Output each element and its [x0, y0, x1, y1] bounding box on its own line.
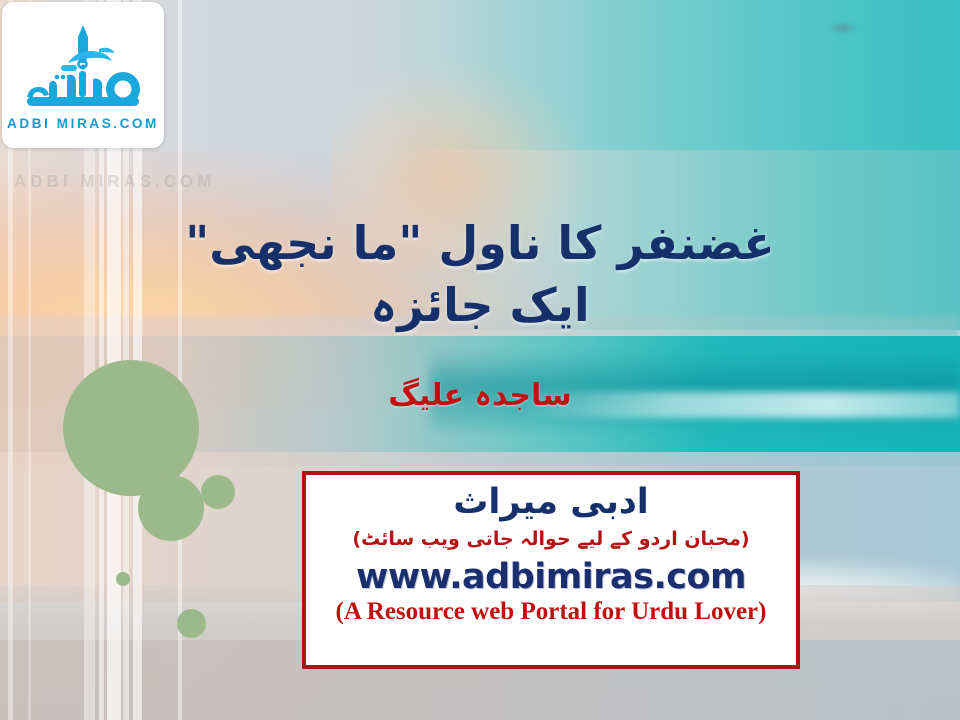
background-watermark: ADBI MIRAS.COM — [14, 172, 215, 193]
decor-circle-3 — [116, 572, 130, 586]
poster-canvas: ADBI MIRAS.COM — [0, 0, 960, 720]
decor-circle-4 — [177, 609, 206, 638]
page-title: غضنفر کا ناول "ما نجھی" ایک جائزہ — [0, 212, 960, 336]
infobox-tagline: (A Resource web Portal for Urdu Lover) — [336, 598, 767, 626]
decor-circle-2 — [201, 475, 235, 509]
decor-circle-1 — [138, 475, 204, 541]
infobox-subtitle: (محبان اردو کے لیے حوالہ جاتی ویب سائٹ) — [352, 527, 749, 552]
website-info-box: ادبی میراث (محبان اردو کے لیے حوالہ جاتی… — [302, 471, 800, 669]
logo-wordmark: ADBI MIRAS.COM — [7, 116, 159, 131]
infobox-heading: ادبی میراث — [453, 481, 649, 525]
site-logo[interactable]: ADBI MIRAS.COM — [2, 2, 164, 148]
bird-silhouette-icon — [828, 22, 858, 34]
author-name: ساجدہ علیگ — [0, 378, 960, 413]
website-url[interactable]: www.adbimiras.com — [356, 557, 746, 597]
adbi-miras-logo-icon — [13, 19, 153, 115]
